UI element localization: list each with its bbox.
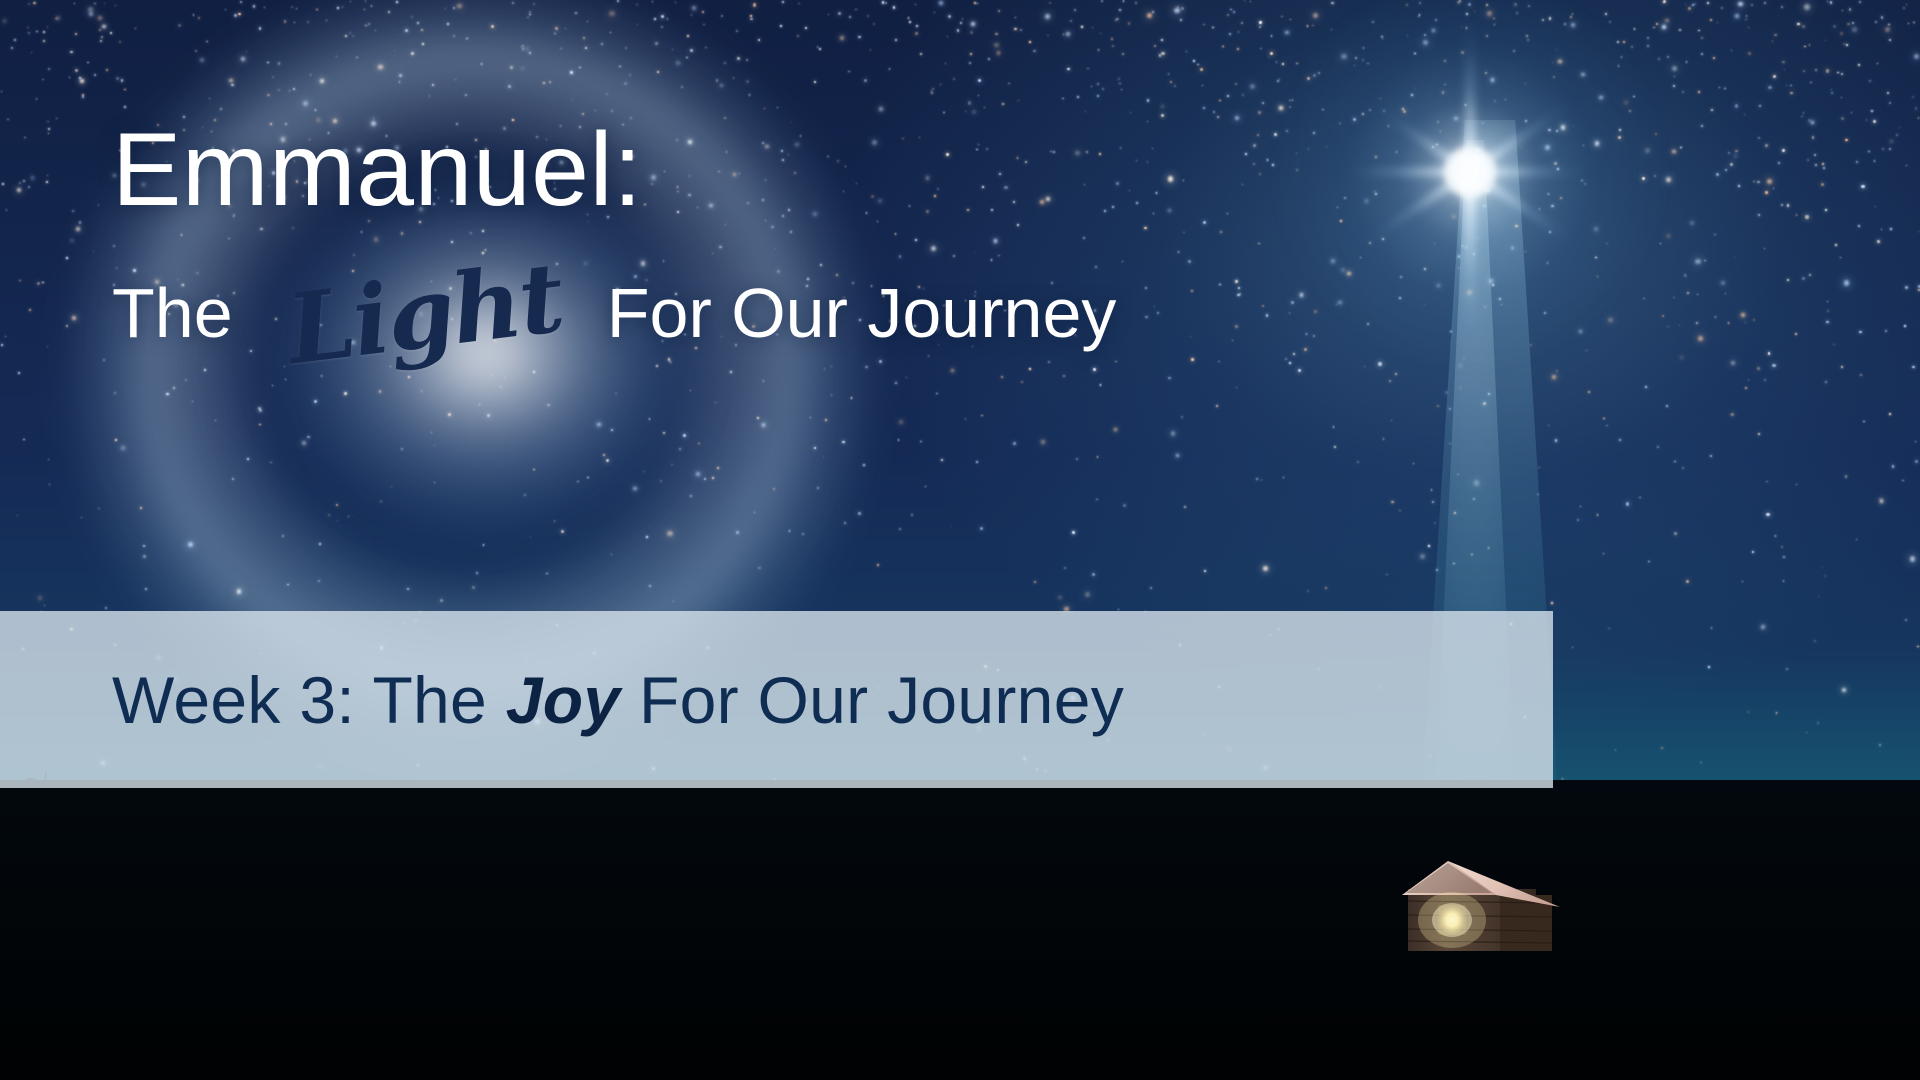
week-banner-prefix: Week 3: The [112, 663, 487, 737]
week-banner: Week 3: The Joy For Our Journey [0, 611, 1553, 788]
slide-canvas: Emmanuel: The Light For Our Journey Week… [0, 0, 1920, 1080]
series-subtitle: The Light For Our Journey [112, 256, 1412, 352]
subtitle-prefix: The [112, 278, 233, 348]
week-banner-emphasis: Joy [506, 663, 621, 737]
week-banner-text: Week 3: The Joy For Our Journey [112, 662, 1124, 738]
week-banner-suffix: For Our Journey [639, 663, 1124, 737]
dark-foreground-hill [0, 780, 1920, 1080]
title-block: Emmanuel: The Light For Our Journey [112, 118, 1412, 352]
subtitle-suffix: For Our Journey [607, 278, 1117, 348]
series-title: Emmanuel: [112, 118, 1412, 222]
nativity-stable [1400, 845, 1580, 960]
